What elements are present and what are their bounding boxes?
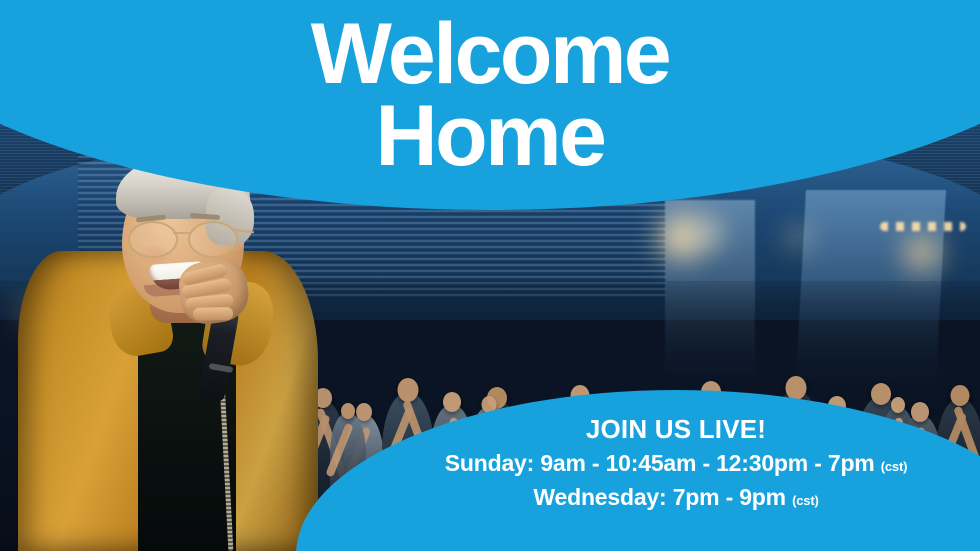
schedule-times: 7pm - 9pm bbox=[673, 484, 786, 510]
crowd-person-head bbox=[786, 376, 807, 400]
crowd-person-head bbox=[951, 385, 970, 406]
schedule-day-label: Wednesday: bbox=[533, 484, 666, 510]
page-title: Welcome Home bbox=[0, 14, 980, 177]
schedule-timezone: (cst) bbox=[881, 459, 907, 474]
lens-right bbox=[188, 221, 238, 258]
crowd-person-head bbox=[398, 378, 419, 402]
crowd-person-head bbox=[443, 392, 461, 412]
schedule-day-label: Sunday: bbox=[445, 450, 534, 476]
crowd-person-head bbox=[871, 383, 891, 405]
schedule-row: Sunday: 9am - 10:45am - 12:30pm - 7pm (c… bbox=[296, 448, 980, 478]
finger bbox=[193, 307, 233, 321]
title-line-2: Home bbox=[0, 96, 980, 178]
promo-banner: Welcome Home JOIN US LIVE! Sunday: 9am -… bbox=[0, 0, 980, 551]
eyeglasses bbox=[126, 221, 242, 255]
join-us-live-heading: JOIN US LIVE! bbox=[296, 414, 980, 445]
glasses-bridge bbox=[173, 232, 191, 234]
lens-left bbox=[128, 221, 178, 258]
schedule-row: Wednesday: 7pm - 9pm (cst) bbox=[296, 482, 980, 512]
schedule-times: 9am - 10:45am - 12:30pm - 7pm bbox=[540, 450, 874, 476]
crowd-person-head bbox=[891, 397, 905, 413]
live-schedule-panel: JOIN US LIVE! Sunday: 9am - 10:45am - 12… bbox=[296, 414, 980, 512]
schedule-timezone: (cst) bbox=[792, 493, 818, 508]
